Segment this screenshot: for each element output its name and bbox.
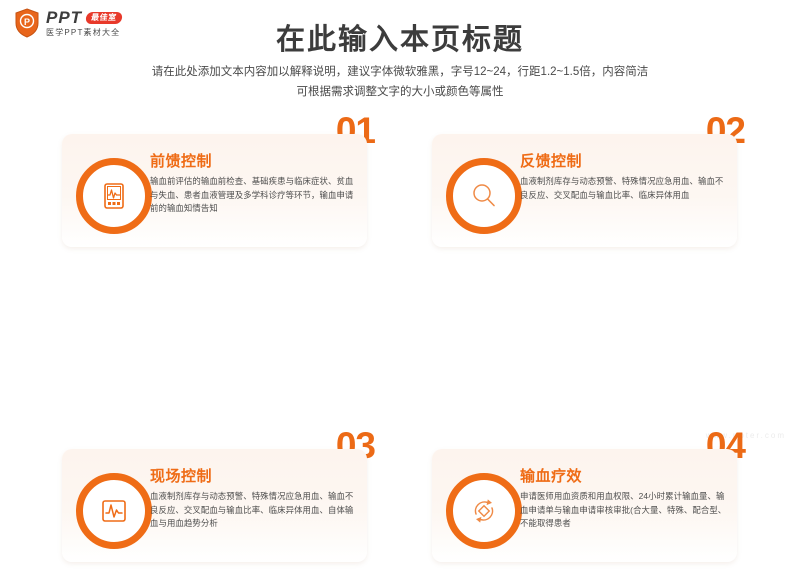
card-title: 现场控制 [150, 465, 360, 486]
card-description: 输血前评估的输血前检查、基础疾患与临床症状、贫血与失血、患者血液管理及多学科诊疗… [150, 175, 360, 216]
card-body: 反馈控制 血液制剂库存与动态预警、特殊情况应急用血、输血不良反应、交叉配血与输血… [520, 150, 730, 202]
card-title: 反馈控制 [520, 150, 730, 171]
patient-monitor-icon [76, 158, 152, 234]
card-description: 申请医师用血资质和用血权限、24小时累计输血量、输血申请单与输血申请审核审批(合… [520, 490, 730, 531]
cards-row-2: 03 现场控制 血液制剂库存与动态预警、特殊情况应急用血、输血不良反应、交叉配血… [0, 262, 800, 412]
card-title: 输血疗效 [520, 465, 730, 486]
card-body: 现场控制 血液制剂库存与动态预警、特殊情况应急用血、输血不良反应、交叉配血与输血… [150, 465, 360, 531]
subtitle-line-2: 可根据需求调整文字的大小或颜色等属性 [0, 82, 800, 102]
card-title: 前馈控制 [150, 150, 360, 171]
page-subtitle: 请在此处添加文本内容加以解释说明，建议字体微软雅黑，字号12~24，行距1.2~… [0, 62, 800, 102]
card-item[interactable]: 01 前馈控制 输血前评估的输血前检查、基础疾患与临床症状、贫血与失血、患者血液… [62, 112, 367, 262]
card-description: 血液制剂库存与动态预警、特殊情况应急用血、输血不良反应、交叉配血与输血比率、临床… [520, 175, 730, 202]
card-body: 前馈控制 输血前评估的输血前检查、基础疾患与临床症状、贫血与失血、患者血液管理及… [150, 150, 360, 216]
card-item[interactable]: 02 反馈控制 血液制剂库存与动态预警、特殊情况应急用血、输血不良反应、交叉配血… [432, 112, 737, 262]
subtitle-line-1: 请在此处添加文本内容加以解释说明，建议字体微软雅黑，字号12~24，行距1.2~… [0, 62, 800, 82]
cards-grid: 01 前馈控制 输血前评估的输血前检查、基础疾患与临床症状、贫血与失血、患者血液… [0, 112, 800, 412]
cards-row-1: 01 前馈控制 输血前评估的输血前检查、基础疾患与临床症状、贫血与失血、患者血液… [0, 112, 800, 262]
card-description: 血液制剂库存与动态预警、特殊情况应急用血、输血不良反应、交叉配血与输血比率、临床… [150, 490, 360, 531]
slide-root: P PPT 最佳室 医学PPT素材大全 在此输入本页标题 请在此处添加文本内容加… [0, 0, 800, 450]
recycle-arrows-icon [446, 473, 522, 549]
ecg-waveform-icon [76, 473, 152, 549]
search-icon [446, 158, 522, 234]
card-body: 输血疗效 申请医师用血资质和用血权限、24小时累计输血量、输血申请单与输血申请审… [520, 465, 730, 531]
page-title: 在此输入本页标题 [0, 16, 800, 58]
